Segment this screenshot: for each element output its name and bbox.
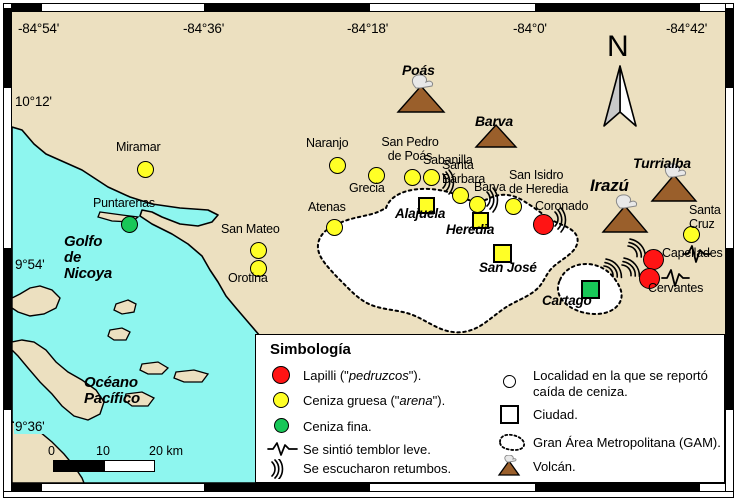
legend-panel: Simbología Lapilli ("pedruzcos"). Ceniza… [255,334,725,483]
locality-label-capellades: Capellades [662,247,723,260]
legend-text-ceniza-gruesa: Ceniza gruesa ("arena"). [303,393,445,408]
lon-label-4: -84°42' [665,21,708,36]
scale-seg-empty [104,460,155,472]
legend-symbol-ceniza-gruesa [273,392,289,408]
legend-symbol-tremor-wave [266,440,300,458]
lon-label-3: -84°0' [512,21,548,36]
lon-label-0: -84°54' [17,21,60,36]
city-label-alajuela: Alajuela [395,208,445,221]
locality-label-san-mateo: San Mateo [221,223,280,236]
north-arrow-icon [600,64,640,132]
city-label-heredia: Heredia [446,224,494,237]
legend-symbol-volcan [496,455,522,477]
locality-symbol-miramar[interactable] [137,161,154,178]
lat-label-0: 10°12' [14,94,53,109]
locality-label-naranjo: Naranjo [306,137,348,150]
legend-symbol-rumble-arcs [268,459,294,479]
legend-text-gam: Gran Área Metropolitana (GAM). [533,435,721,450]
locality-symbol-san-mateo[interactable] [250,242,267,259]
lat-label-2: 9°36' [14,419,46,434]
lon-label-1: -84°36' [182,21,225,36]
north-arrow-letter: N [607,32,629,62]
locality-label-puntarenas: Puntarenas [93,197,155,210]
water-label-golfo-de-nicoya: Golfo de Nicoya [64,234,112,282]
legend-text-tremor: Se sintió temblor leve. [303,442,431,457]
locality-symbol-san-isidro-de-heredia[interactable] [505,198,522,215]
locality-symbol-atenas[interactable] [326,219,343,236]
city-label-san-jose: San José [479,262,537,275]
map-figure: -84°54' -84°36' -84°18' -84°0' -84°42' 1… [0,0,737,501]
locality-symbol-puntarenas[interactable] [121,216,138,233]
graticule-left [3,3,12,492]
legend-text-ciudad: Ciudad. [533,407,578,422]
locality-label-barva-town: Barva [474,181,506,194]
locality-label-san-isidro-de-heredia: San Isidrode Heredia [509,169,581,196]
legend-text-localidad: Localidad en la que se reportó caída de … [533,368,723,400]
locality-symbol-santa-barbara[interactable] [452,187,469,204]
locality-label-miramar: Miramar [116,141,160,154]
legend-symbol-lapilli [272,366,290,384]
legend-symbol-localidad [503,375,516,388]
legend-title: Simbología [270,341,351,358]
locality-symbol-sabanilla[interactable] [423,169,440,186]
locality-label-orotina: Orotina [228,272,268,285]
volcano-label-poas: Poás [402,64,435,77]
graticule-top [3,3,734,12]
lat-label-1: 9°54' [14,257,46,272]
legend-text-rumble: Se escucharon retumbos. [303,461,451,476]
locality-symbol-capellades[interactable] [643,249,664,270]
volcano-label-irazu: Irazú [590,180,629,193]
legend-symbol-gam-outline [494,431,530,453]
volcano-label-barva: Barva [475,115,513,128]
scale-label-20: 20 km [149,444,183,458]
locality-symbol-barva-town[interactable] [469,196,486,213]
graticule-right [725,3,734,492]
scale-label-10: 10 [96,444,110,458]
scale-label-0: 0 [48,444,55,458]
volcano-label-turrialba: Turrialba [633,157,691,170]
lon-label-2: -84°18' [346,21,389,36]
locality-label-grecia: Grecia [349,182,385,195]
city-label-cartago: Cartago [542,295,592,308]
graticule-bottom [3,483,734,492]
locality-symbol-naranjo[interactable] [329,157,346,174]
locality-label-cervantes: Cervantes [648,282,703,295]
legend-symbol-ciudad [500,405,519,424]
legend-text-lapilli: Lapilli ("pedruzcos"). [303,368,421,383]
legend-text-volcan: Volcán. [533,459,576,474]
scale-seg-filled [53,460,104,472]
locality-label-santa-cruz: SantaCruz [689,204,725,231]
locality-label-atenas: Atenas [308,201,346,214]
locality-symbol-san-pedro-de-poas[interactable] [404,169,421,186]
legend-text-ceniza-fina: Ceniza fina. [303,419,372,434]
legend-symbol-ceniza-fina [274,418,289,433]
locality-label-coronado: Coronado [535,200,588,213]
locality-symbol-coronado[interactable] [533,214,554,235]
water-label-oceano-pacifico: Océano Pacífico [84,375,140,407]
